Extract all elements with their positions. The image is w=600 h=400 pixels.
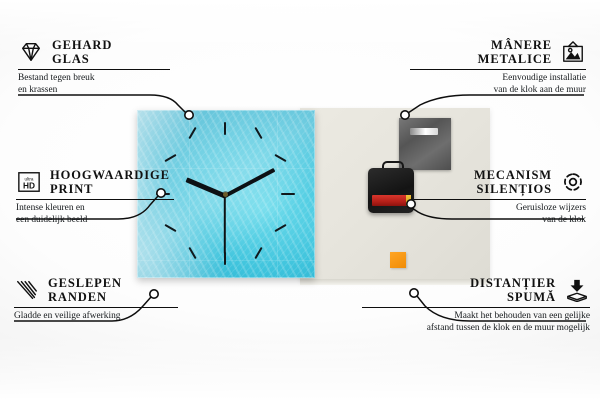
callout-manere-metalice: MÂNERE METALICE Eenvoudige installatie v… [410,38,586,97]
callout-gehard-glas: GEHARD GLAS Bestand tegen breuk en krass… [18,38,188,97]
foam-spacer [390,252,406,268]
battery [372,195,410,206]
hanger-slot [410,128,438,135]
callout-description: Maakt het behouden van een gelijke afsta… [362,311,590,334]
metal-hanger-plate [399,118,451,170]
callout-rule [414,199,586,200]
battery-terminal [406,195,411,206]
bevelled-edges-icon [14,278,40,302]
tick-6 [224,252,226,265]
callout-header: DISTANȚIER SPUMĂ [362,276,590,304]
callout-header: MECANISM SILENȚIOS [414,168,586,196]
infographic-canvas: GEHARD GLAS Bestand tegen breuk en krass… [0,0,600,400]
callout-header: MÂNERE METALICE [410,38,586,66]
second-hand [224,195,226,253]
clock-center-pin [223,192,228,197]
clock-movement [368,168,414,213]
callout-geslepen-randen: GESLEPEN RANDEN Gladde en veilige afwerk… [14,276,194,323]
callout-description: Intense kleuren en een duidelijk beeld [16,203,191,226]
callout-title: DISTANȚIER SPUMĂ [470,276,556,304]
callout-rule [14,307,178,308]
ultra-hd-icon: ultra HD [16,170,42,194]
callout-description: Eenvoudige installatie van de klok aan d… [410,73,586,96]
tick-12 [224,122,226,135]
svg-text:HD: HD [23,180,35,190]
callout-description: Gladde en veilige afwerking [14,311,194,323]
wall-mount-picture-icon [560,40,586,64]
callout-title: MÂNERE METALICE [478,38,552,66]
gear-icon [560,170,586,194]
diamond-icon [18,40,44,64]
callout-title: GEHARD GLAS [52,38,112,66]
callout-hoogwaardige-print: ultra HD HOOGWAARDIGE PRINT Intense kleu… [16,168,191,227]
callout-rule [18,69,170,70]
callout-header: GESLEPEN RANDEN [14,276,194,304]
callout-title: GESLEPEN RANDEN [48,276,122,304]
callout-title: HOOGWAARDIGE PRINT [50,168,170,196]
callout-rule [16,199,174,200]
callout-description: Geruisloze wijzers van de klok [414,203,586,226]
foam-spacer-icon [564,278,590,302]
callout-header: GEHARD GLAS [18,38,188,66]
callout-title: MECANISM SILENȚIOS [474,168,552,196]
callout-description: Bestand tegen breuk en krassen [18,73,188,96]
callout-distantier-spuma: DISTANȚIER SPUMĂ Maakt het behouden van … [362,276,590,335]
callout-header: ultra HD HOOGWAARDIGE PRINT [16,168,191,196]
callout-rule [410,69,586,70]
callout-mecanism-silentios: MECANISM SILENȚIOS Geruisloze wijzers va… [414,168,586,227]
callout-rule [362,307,590,308]
